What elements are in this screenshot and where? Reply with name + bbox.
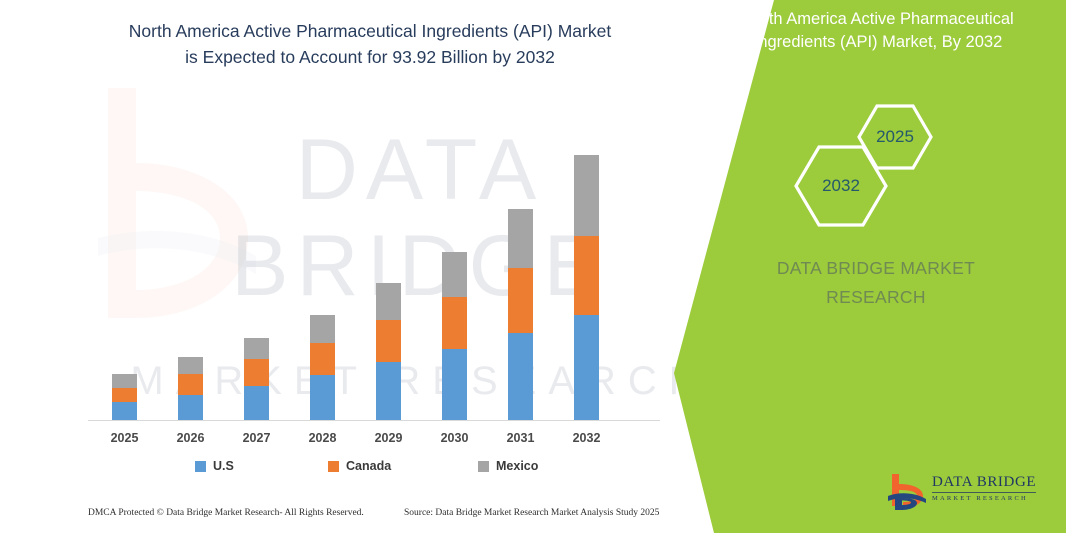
bar-segment-us-2028 [310, 375, 335, 420]
bar-2031 [508, 209, 533, 420]
bar-segment-canada-2027 [244, 359, 269, 386]
legend-swatch-icon [478, 461, 489, 472]
legend-item-us[interactable]: U.S [195, 459, 234, 473]
legend-label: Canada [346, 459, 391, 473]
bar-segment-canada-2028 [310, 343, 335, 376]
bar-2027 [244, 338, 269, 420]
bar-segment-us-2032 [574, 315, 599, 420]
x-axis-label-2031: 2031 [488, 431, 554, 445]
legend-label: U.S [213, 459, 234, 473]
green-side-panel: North America Active Pharmaceutical Ingr… [666, 0, 1066, 533]
bar-2032 [574, 155, 599, 420]
hexagon-2032: 2032 [793, 144, 889, 228]
panel-brand-line2: RESEARCH [726, 283, 1026, 312]
stacked-bar-chart: 20252026202720282029203020312032 U.SCana… [0, 0, 720, 533]
panel-brand-text: DATA BRIDGE MARKET RESEARCH [726, 254, 1026, 312]
bar-segment-mexico-2030 [442, 252, 467, 297]
bar-segment-mexico-2028 [310, 315, 335, 343]
hexagon-2032-label: 2032 [822, 176, 860, 196]
chart-baseline [88, 420, 660, 421]
bar-segment-us-2031 [508, 333, 533, 420]
x-axis-label-2025: 2025 [92, 431, 158, 445]
bar-segment-mexico-2029 [376, 283, 401, 320]
bar-2026 [178, 357, 203, 420]
x-axis-label-2026: 2026 [158, 431, 224, 445]
bar-segment-us-2030 [442, 349, 467, 420]
bar-segment-mexico-2027 [244, 338, 269, 359]
chart-legend: U.SCanadaMexico [88, 457, 660, 477]
data-bridge-logo-icon [886, 472, 928, 512]
bar-segment-canada-2031 [508, 268, 533, 333]
bar-segment-mexico-2031 [508, 209, 533, 267]
bar-segment-mexico-2032 [574, 155, 599, 236]
panel-title-line2: Ingredients (API) Market, By 2032 [714, 31, 1042, 54]
footer-source: Source: Data Bridge Market Research Mark… [404, 508, 659, 518]
x-axis-label-2030: 2030 [422, 431, 488, 445]
bar-2030 [442, 252, 467, 420]
bar-segment-canada-2026 [178, 374, 203, 395]
bar-2025 [112, 374, 137, 420]
bar-segment-us-2027 [244, 386, 269, 420]
x-axis-label-2027: 2027 [224, 431, 290, 445]
x-axis-label-2028: 2028 [290, 431, 356, 445]
infographic-canvas: DATA BRIDGE MARKET RESEARCH North Americ… [0, 0, 1066, 533]
legend-item-mexico[interactable]: Mexico [478, 459, 538, 473]
logo-tagline: MARKET RESEARCH [932, 494, 1036, 503]
footer-copyright: DMCA Protected © Data Bridge Market Rese… [88, 508, 364, 518]
logo-wordmark: DATA BRIDGE MARKET RESEARCH [932, 474, 1036, 503]
hexagon-2025-label: 2025 [876, 127, 914, 147]
bar-segment-canada-2032 [574, 236, 599, 315]
bar-segment-us-2026 [178, 395, 203, 420]
bar-segment-us-2025 [112, 402, 137, 420]
bar-segment-canada-2030 [442, 297, 467, 349]
bar-segment-canada-2029 [376, 320, 401, 362]
logo-divider [932, 492, 1036, 493]
panel-title: North America Active Pharmaceutical Ingr… [714, 8, 1042, 54]
panel-brand-line1: DATA BRIDGE MARKET [726, 254, 1026, 283]
dbmr-logo: DATA BRIDGE MARKET RESEARCH [886, 470, 1046, 514]
legend-swatch-icon [195, 461, 206, 472]
bar-segment-us-2029 [376, 362, 401, 420]
legend-item-canada[interactable]: Canada [328, 459, 391, 473]
bar-segment-mexico-2026 [178, 357, 203, 374]
bar-2028 [310, 315, 335, 420]
bar-2029 [376, 283, 401, 420]
chart-area: DATA BRIDGE MARKET RESEARCH North Americ… [0, 0, 720, 533]
bar-segment-mexico-2025 [112, 374, 137, 388]
bar-segment-canada-2025 [112, 388, 137, 402]
panel-title-line1: North America Active Pharmaceutical [714, 8, 1042, 31]
legend-swatch-icon [328, 461, 339, 472]
x-axis-label-2032: 2032 [554, 431, 620, 445]
logo-name: DATA BRIDGE [932, 474, 1036, 491]
footer: DMCA Protected © Data Bridge Market Rese… [0, 508, 720, 530]
legend-label: Mexico [496, 459, 538, 473]
x-axis-label-2029: 2029 [356, 431, 422, 445]
